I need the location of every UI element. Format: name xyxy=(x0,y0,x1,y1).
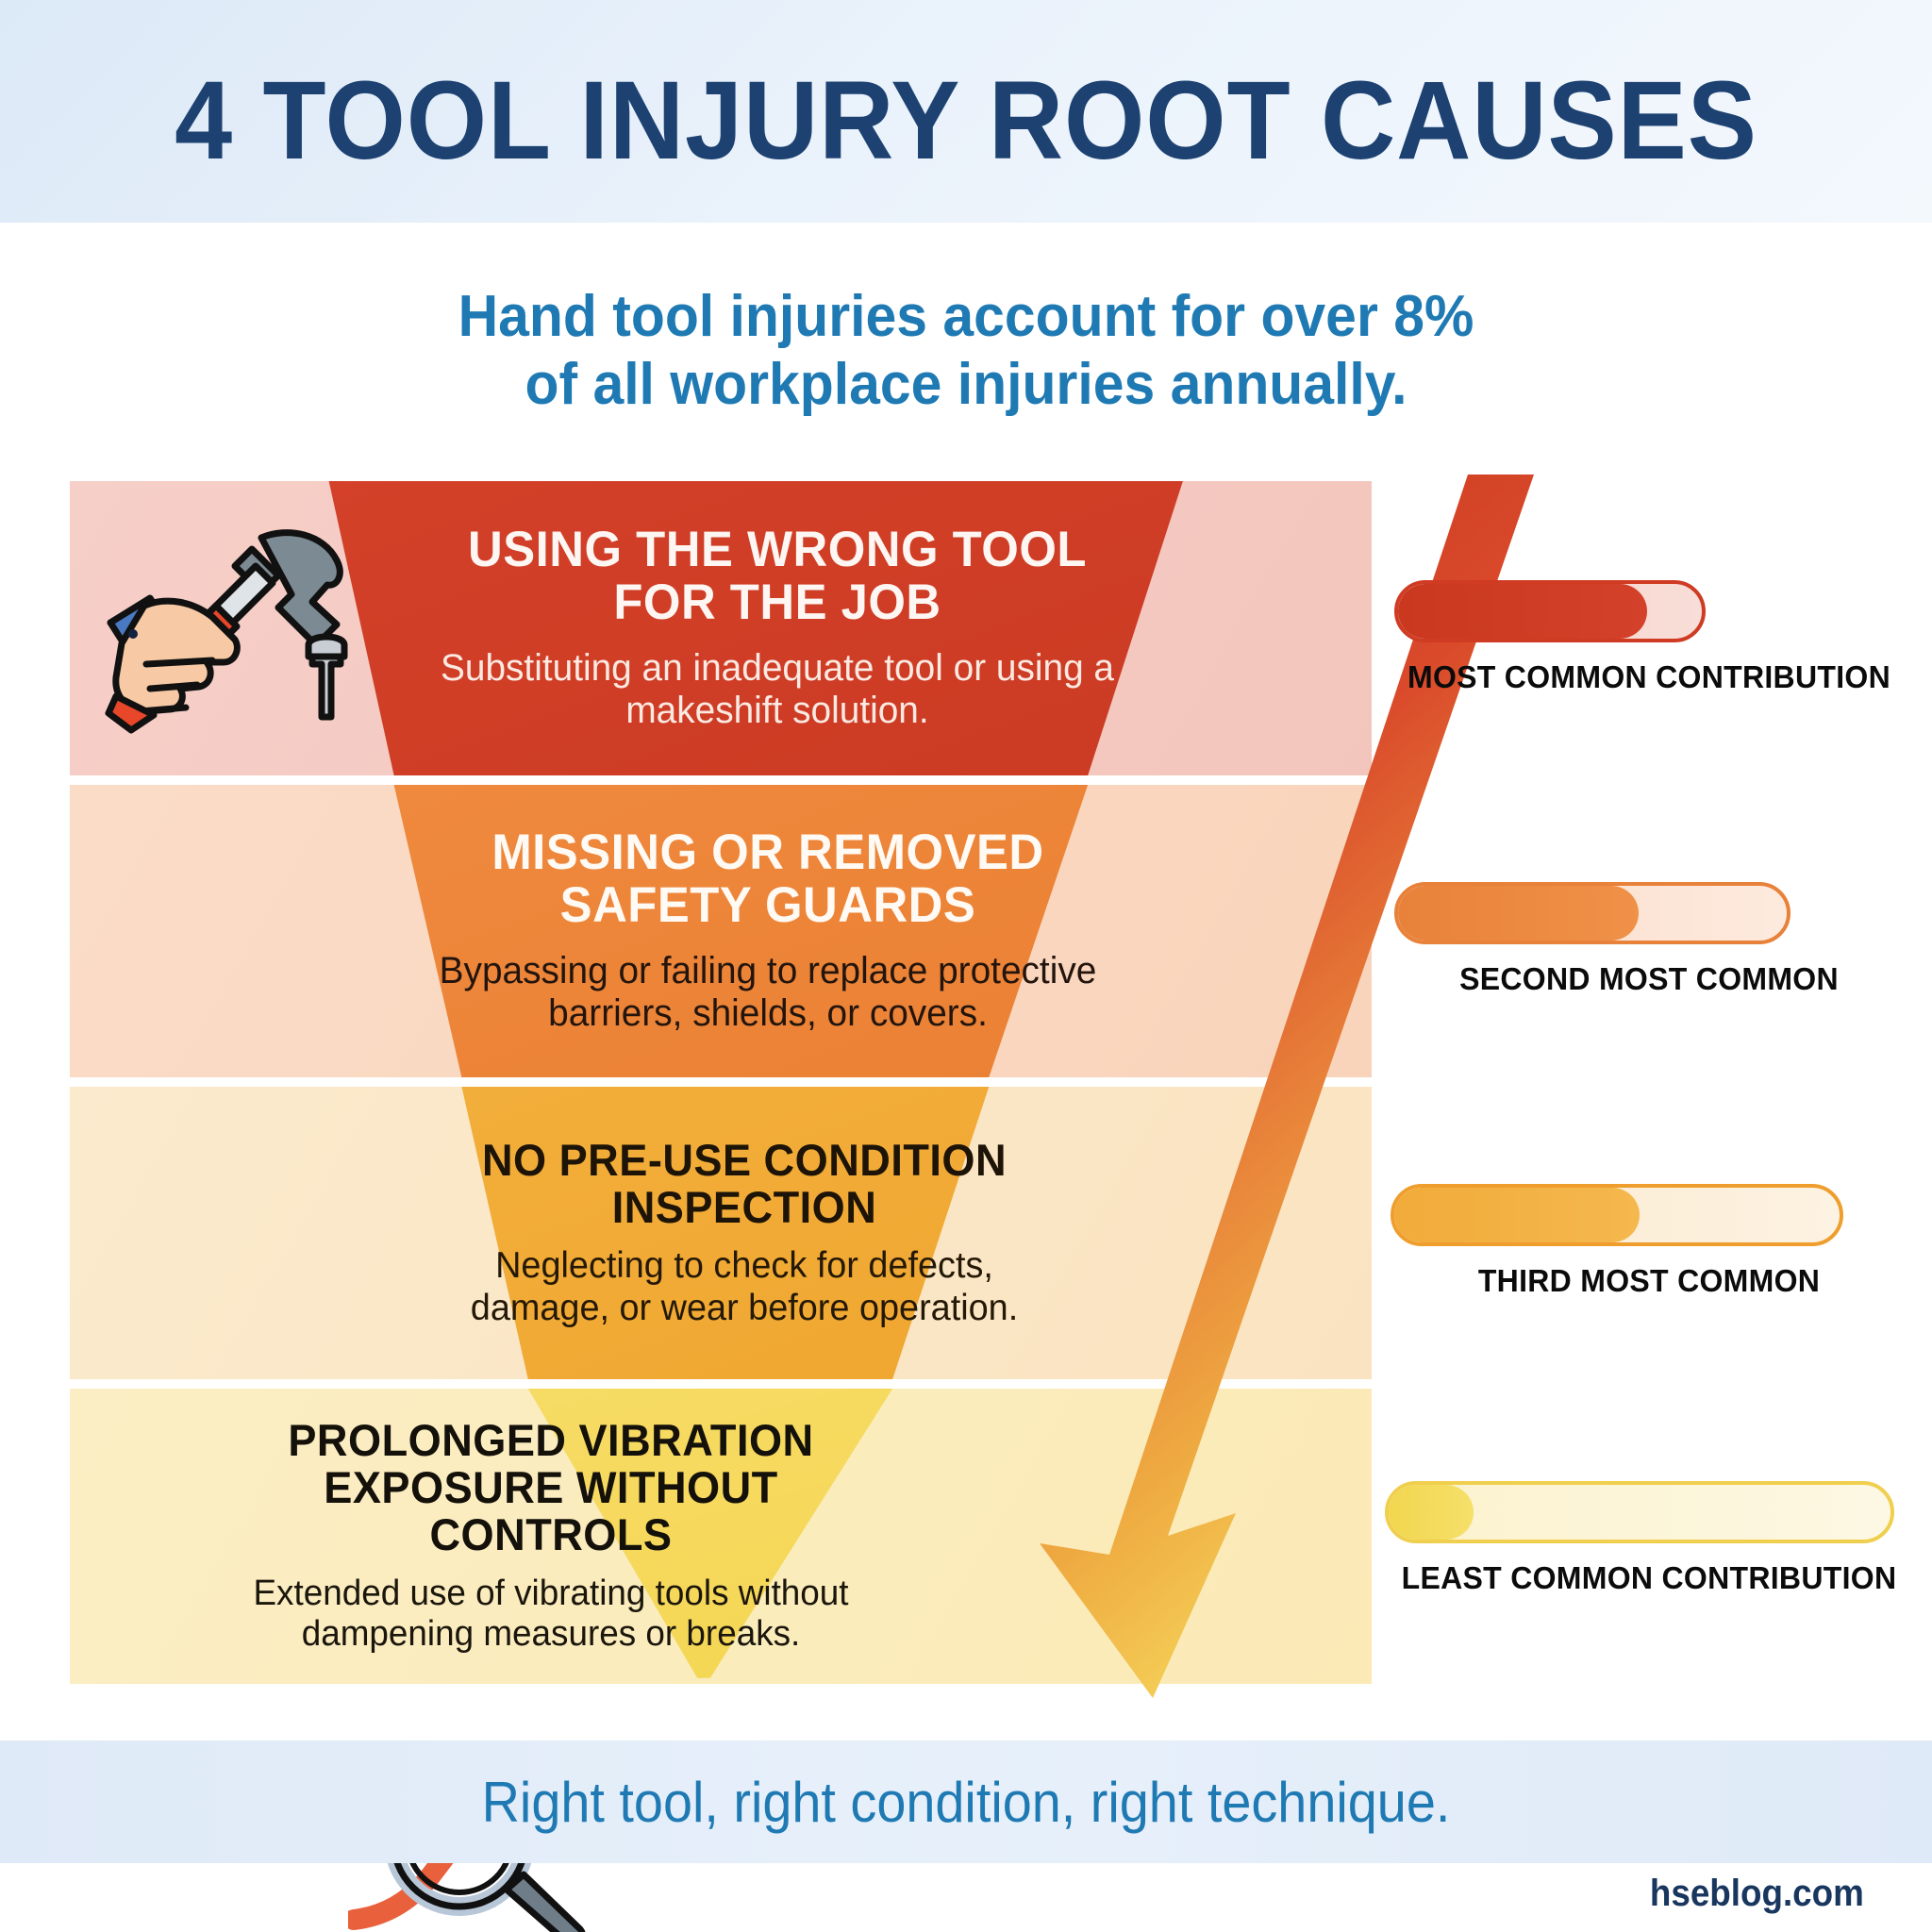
legend-label-2: SECOND MOST COMMON xyxy=(1374,961,1924,997)
legend-bar-2 xyxy=(1394,882,1790,944)
funnel-row-1: USING THE WRONG TOOL FOR THE JOB Substit… xyxy=(70,481,1372,775)
legend-bar-fill-3 xyxy=(1394,1188,1640,1242)
footer-banner: Right tool, right condition, right techn… xyxy=(0,1740,1932,1863)
legend-item-1: MOST COMMON CONTRIBUTION xyxy=(1366,580,1932,695)
funnel-heading-2: MISSING OR REMOVED SAFETY GUARDS xyxy=(441,826,1093,932)
funnel-description-4: Extended use of vibrating tools without … xyxy=(231,1574,872,1656)
funnel-text-4: PROLONGED VIBRATION EXPOSURE WITHOUT CON… xyxy=(221,1389,881,1684)
legend-item-3: THIRD MOST COMMON xyxy=(1366,1184,1932,1299)
funnel-heading-1: USING THE WRONG TOOL FOR THE JOB xyxy=(433,524,1122,629)
subtitle-line-1: Hand tool injuries account for over 8% xyxy=(458,284,1474,349)
legend-bar-fill-4 xyxy=(1389,1485,1474,1540)
footer-tagline: Right tool, right condition, right techn… xyxy=(482,1770,1451,1835)
legend-panel: MOST COMMON CONTRIBUTION SECOND MOST COM… xyxy=(1366,481,1932,1684)
infographic-poster: 4 TOOL INJURY ROOT CAUSES Hand tool inju… xyxy=(0,0,1932,1932)
funnel-chart: USING THE WRONG TOOL FOR THE JOB Substit… xyxy=(70,481,1372,1684)
hammer-hand-nail-icon xyxy=(89,502,372,757)
legend-bar-fill-2 xyxy=(1398,886,1639,941)
legend-item-2: SECOND MOST COMMON xyxy=(1366,882,1932,997)
header-banner: 4 TOOL INJURY ROOT CAUSES xyxy=(0,0,1932,223)
funnel-description-1: Substituting an inadequate tool or using… xyxy=(429,647,1124,733)
legend-bar-3 xyxy=(1391,1184,1843,1246)
funnel-description-3: Neglecting to check for defects, damage,… xyxy=(456,1245,1032,1329)
legend-bar-fill-1 xyxy=(1398,584,1647,639)
funnel-description-2: Bypassing or failing to replace protecti… xyxy=(439,950,1097,1036)
funnel-row-2: MISSING OR REMOVED SAFETY GUARDS Bypassi… xyxy=(70,785,1372,1077)
subtitle: Hand tool injuries account for over 8% o… xyxy=(48,283,1884,419)
funnel-text-2: MISSING OR REMOVED SAFETY GUARDS Bypassi… xyxy=(428,785,1108,1077)
funnel-row-3: NO PRE-USE CONDITION INSPECTION Neglecti… xyxy=(70,1087,1372,1379)
funnel-text-3: NO PRE-USE CONDITION INSPECTION Neglecti… xyxy=(447,1087,1041,1379)
legend-bar-1 xyxy=(1394,580,1706,642)
site-credit: hseblog.com xyxy=(1650,1873,1864,1915)
page-title: 4 TOOL INJURY ROOT CAUSES xyxy=(68,57,1865,185)
funnel-text-1: USING THE WRONG TOOL FOR THE JOB Substit… xyxy=(419,481,1136,775)
subtitle-line-2: of all workplace injuries annually. xyxy=(48,351,1884,419)
funnel-heading-3: NO PRE-USE CONDITION INSPECTION xyxy=(459,1137,1030,1231)
legend-label-4: LEAST COMMON CONTRIBUTION xyxy=(1374,1560,1924,1596)
legend-bar-4 xyxy=(1385,1481,1894,1543)
legend-item-4: LEAST COMMON CONTRIBUTION xyxy=(1366,1481,1932,1596)
legend-label-1: MOST COMMON CONTRIBUTION xyxy=(1374,659,1924,695)
funnel-heading-4: PROLONGED VIBRATION EXPOSURE WITHOUT CON… xyxy=(234,1417,868,1557)
legend-label-3: THIRD MOST COMMON xyxy=(1374,1263,1924,1299)
funnel-row-4: PROLONGED VIBRATION EXPOSURE WITHOUT CON… xyxy=(70,1389,1372,1684)
